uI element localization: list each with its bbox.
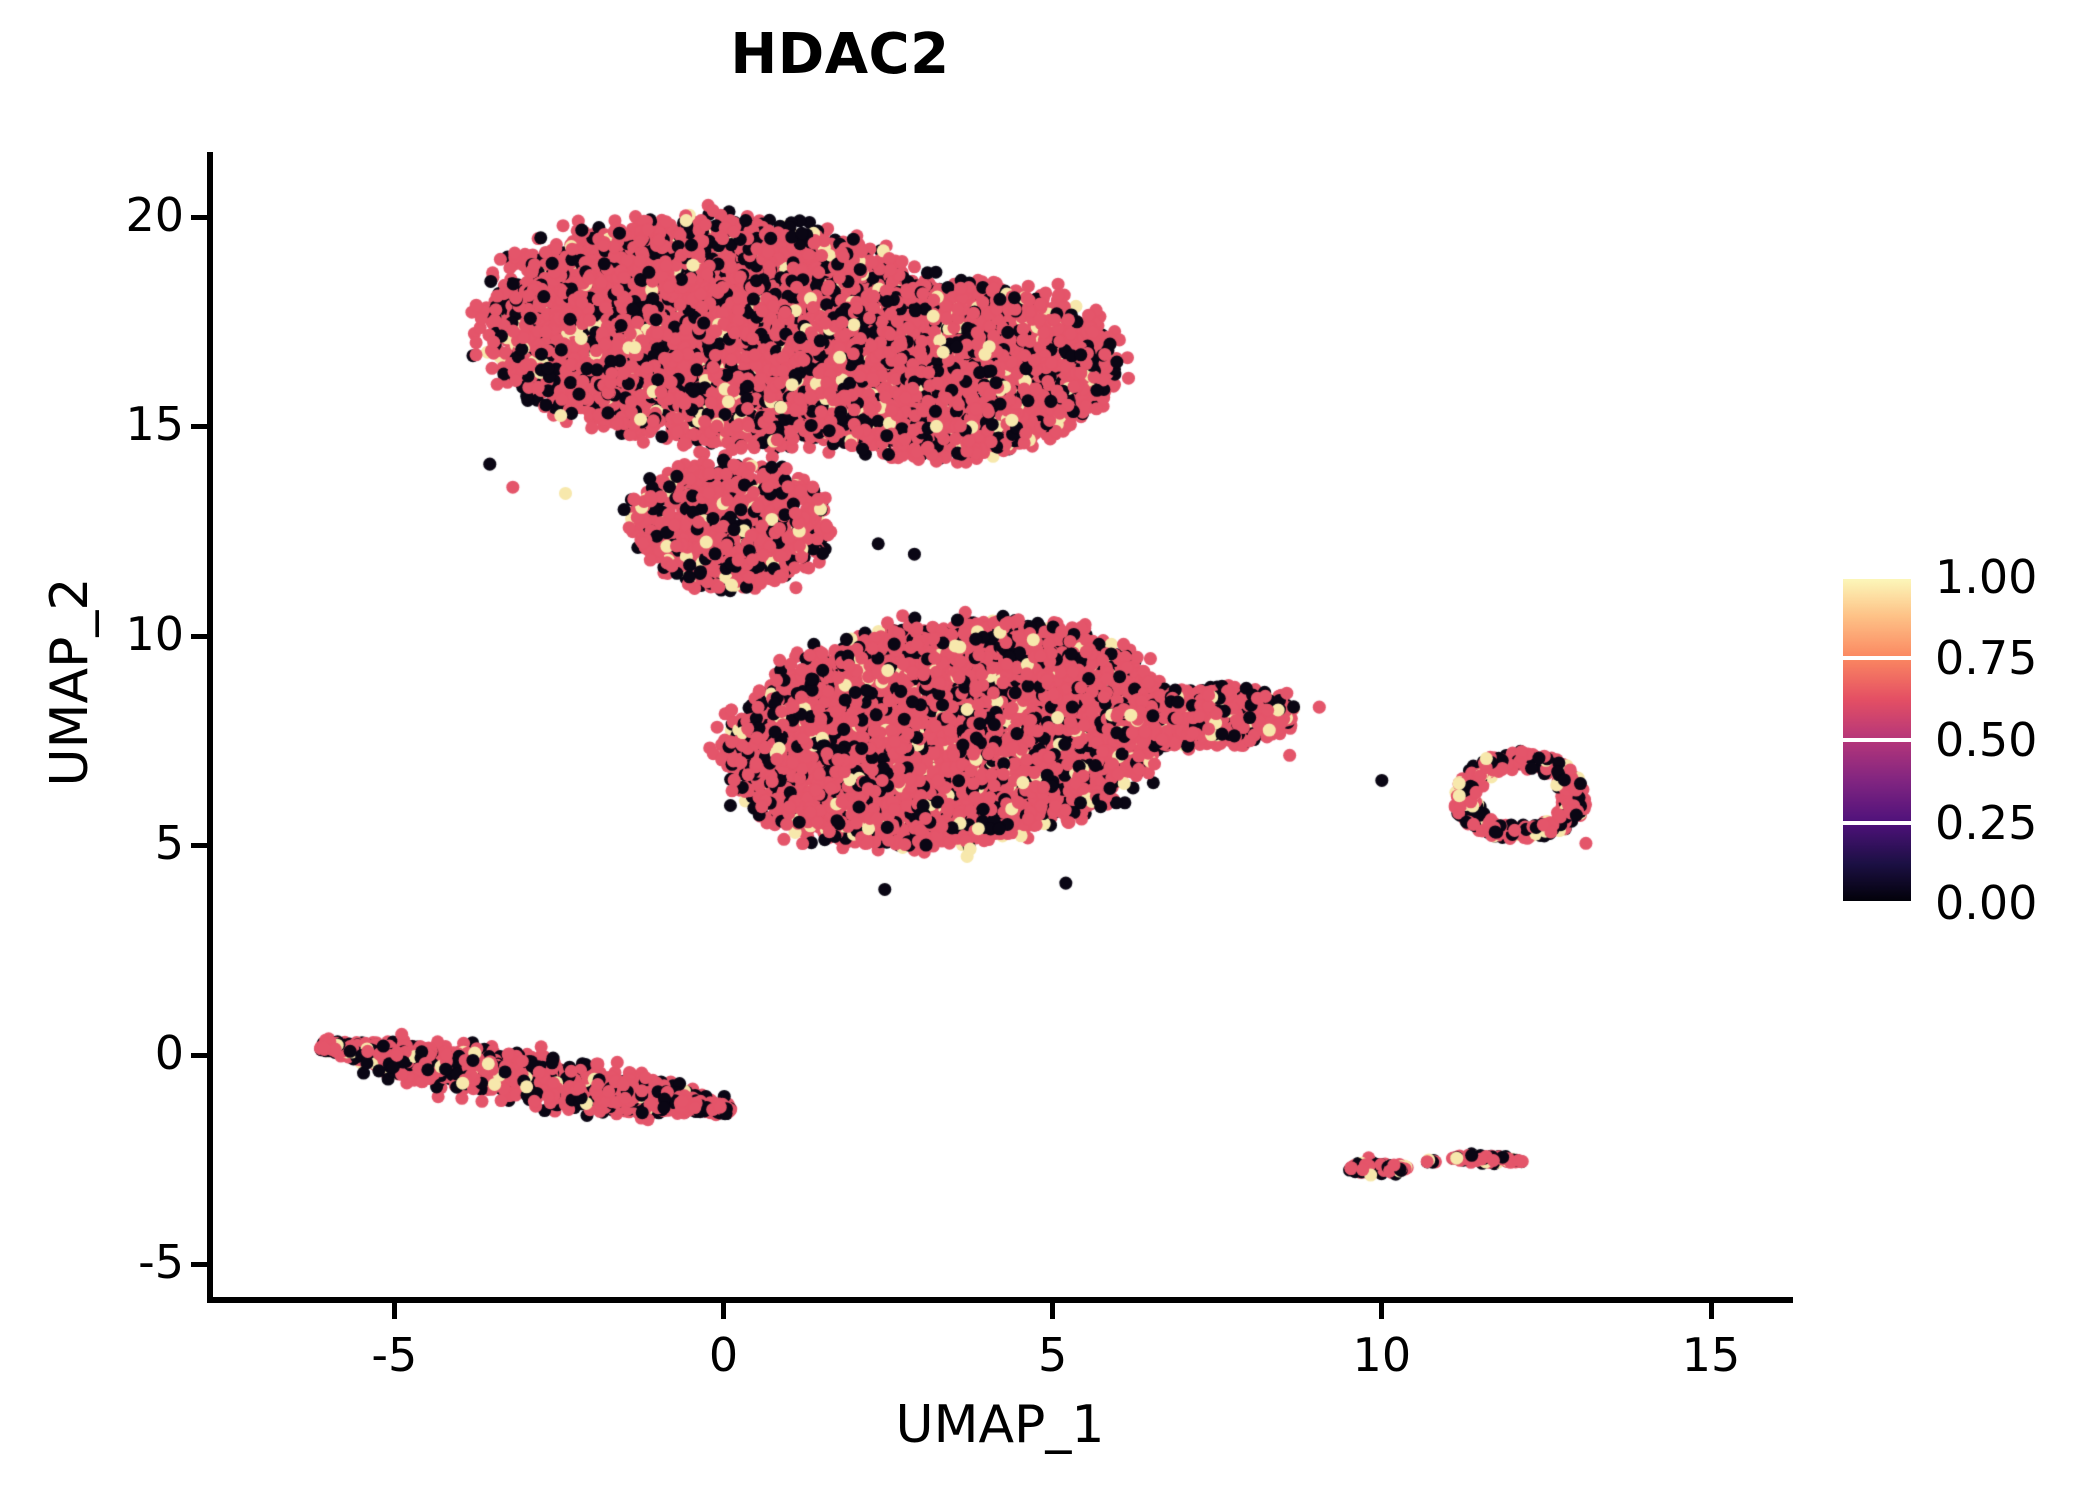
y-tick-label: 10 — [125, 607, 184, 661]
colorbar-tick-mark — [1843, 738, 1911, 742]
y-tick-mark — [191, 1053, 207, 1058]
colorbar-tick-mark — [1843, 821, 1911, 825]
y-tick-mark — [191, 424, 207, 429]
colorbar-tick-label: 0.00 — [1935, 876, 2037, 930]
x-tick-mark — [392, 1303, 397, 1319]
y-tick-label: 15 — [125, 397, 184, 451]
x-tick-mark — [1050, 1303, 1055, 1319]
y-tick-label: 5 — [155, 816, 184, 870]
colorbar: 1.000.750.500.250.00 — [1843, 575, 2093, 905]
x-tick-mark — [1379, 1303, 1384, 1319]
x-axis-spine — [207, 1297, 1793, 1303]
x-tick-mark — [721, 1303, 726, 1319]
colorbar-tick-label: 0.50 — [1935, 713, 2037, 767]
colorbar-tick-mark — [1843, 901, 1911, 905]
colorbar-tick-label: 1.00 — [1935, 550, 2037, 604]
x-tick-mark — [1709, 1303, 1714, 1319]
y-tick-mark — [191, 843, 207, 848]
y-tick-mark — [191, 634, 207, 639]
scatter-plot-canvas — [210, 152, 1790, 1300]
y-tick-mark — [191, 1262, 207, 1267]
x-tick-label: 5 — [1038, 1328, 1067, 1382]
y-tick-mark — [191, 215, 207, 220]
colorbar-tick-label: 0.75 — [1935, 631, 2037, 685]
colorbar-tick-mark — [1843, 656, 1911, 660]
page-title: HDAC2 — [0, 22, 1680, 87]
y-tick-label: 0 — [155, 1026, 184, 1080]
colorbar-tick-label: 0.25 — [1935, 796, 2037, 850]
colorbar-tick-mark — [1843, 575, 1911, 579]
plot-axes: -505101520 -5051015 — [210, 152, 1790, 1300]
x-axis-label: UMAP_1 — [210, 1395, 1790, 1455]
y-tick-label: 20 — [125, 188, 184, 242]
y-axis-label: UMAP_2 — [40, 382, 100, 982]
umap-feature-plot: HDAC2 -505101520 -5051015 UMAP_1 UMAP_2 … — [0, 0, 2100, 1500]
y-axis-spine — [207, 152, 213, 1300]
x-tick-label: -5 — [371, 1328, 417, 1382]
x-tick-label: 0 — [709, 1328, 738, 1382]
y-tick-label: -5 — [138, 1235, 184, 1289]
x-tick-label: 10 — [1353, 1328, 1412, 1382]
x-tick-label: 15 — [1682, 1328, 1741, 1382]
